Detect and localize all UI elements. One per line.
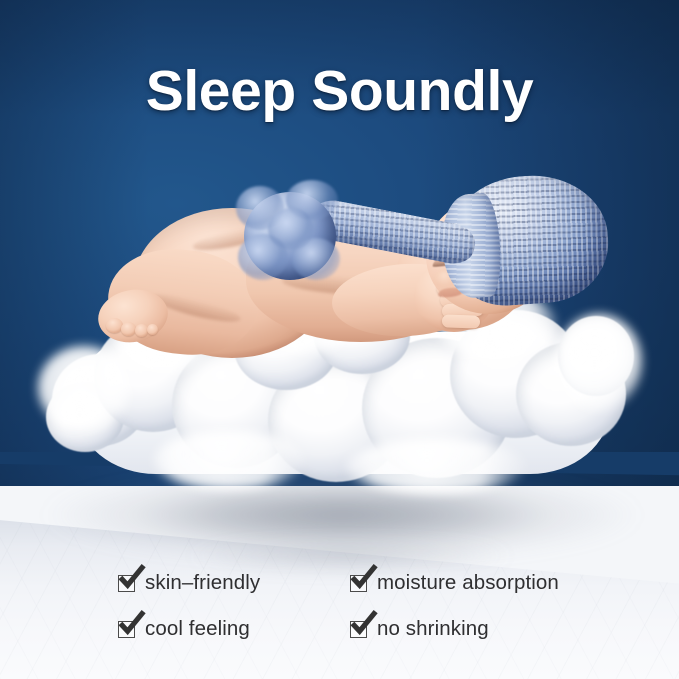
- feature-item-skin-friendly[interactable]: skin–friendly: [118, 573, 260, 594]
- feature-item-cool-feeling[interactable]: cool feeling: [118, 619, 250, 640]
- feature-list: skin–friendly cool feeling moisture abso…: [0, 561, 679, 661]
- feature-label: cool feeling: [145, 619, 250, 640]
- check-icon: [350, 566, 376, 592]
- page-title: Sleep Soundly: [0, 61, 679, 121]
- checkbox-icon[interactable]: [350, 575, 367, 592]
- check-icon: [118, 612, 144, 638]
- knit-hat: [96, 168, 576, 368]
- cloud-fiber: [154, 430, 304, 490]
- checkbox-icon[interactable]: [350, 621, 367, 638]
- feature-item-no-shrinking[interactable]: no shrinking: [350, 619, 489, 640]
- feature-label: no shrinking: [377, 619, 489, 640]
- sleeping-baby: [96, 168, 576, 368]
- check-icon: [350, 612, 376, 638]
- checkbox-icon[interactable]: [118, 621, 135, 638]
- pompom-tuft: [268, 208, 314, 250]
- product-poster: Sleep Soundly: [0, 0, 679, 679]
- checkbox-icon[interactable]: [118, 575, 135, 592]
- feature-label: moisture absorption: [377, 573, 559, 594]
- feature-item-moisture-absorption[interactable]: moisture absorption: [350, 573, 559, 594]
- feature-label: skin–friendly: [145, 573, 260, 594]
- check-icon: [118, 566, 144, 592]
- cloud-fiber: [346, 438, 526, 494]
